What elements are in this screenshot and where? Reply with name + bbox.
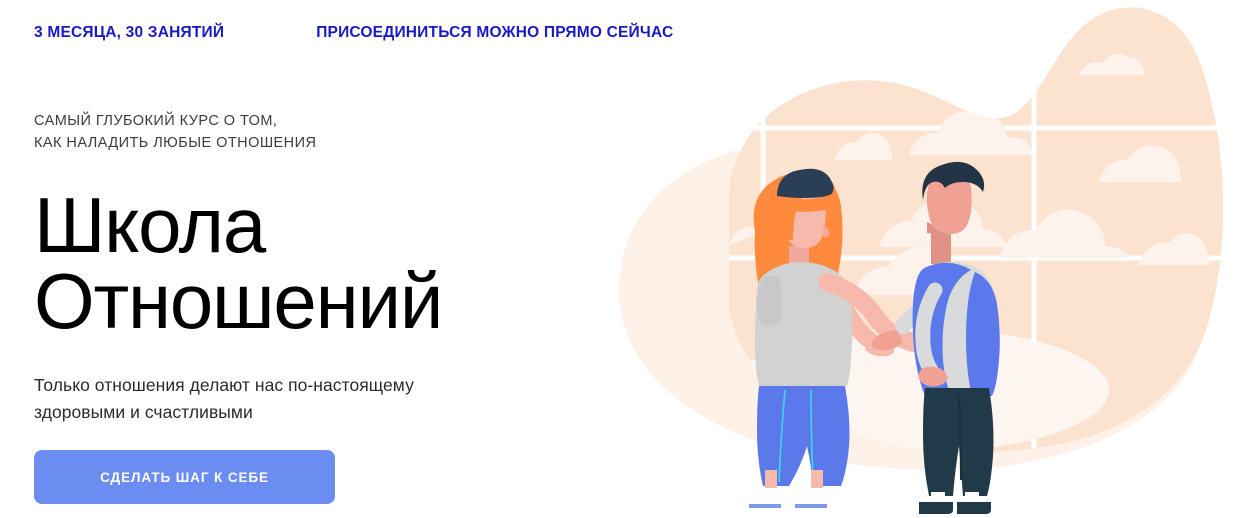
eyebrow-row: 3 МЕСЯЦА, 30 ЗАНЯТИЙ ПРИСОЕДИНИТЬСЯ МОЖН…	[34, 24, 673, 42]
man-shoe-right	[957, 502, 991, 514]
page-title: Школа Отношений	[34, 188, 442, 339]
hero-section: 3 МЕСЯЦА, 30 ЗАНЯТИЙ ПРИСОЕДИНИТЬСЯ МОЖН…	[0, 0, 1239, 518]
woman-shoe-sole-left	[749, 504, 781, 508]
hero-description: Только отношения делают нас по-настоящем…	[34, 372, 414, 425]
make-a-step-button[interactable]: СДЕЛАТЬ ШАГ К СЕБЕ	[34, 450, 335, 504]
hero-content: 3 МЕСЯЦА, 30 ЗАНЯТИЙ ПРИСОЕДИНИТЬСЯ МОЖН…	[34, 0, 594, 518]
course-kicker: САМЫЙ ГЛУБОКИЙ КУРС О ТОМ, КАК НАЛАДИТЬ …	[34, 110, 316, 154]
hero-illustration	[579, 0, 1239, 518]
woman-sleeve	[757, 276, 782, 325]
woman-shoe-sole-right	[795, 504, 827, 508]
eyebrow-duration: 3 МЕСЯЦА, 30 ЗАНЯТИЙ	[34, 24, 224, 42]
man-shoe-left	[919, 502, 953, 514]
eyebrow-join-now: ПРИСОЕДИНИТЬСЯ МОЖНО ПРЯМО СЕЙЧАС	[316, 24, 673, 42]
man-trousers	[923, 388, 994, 496]
